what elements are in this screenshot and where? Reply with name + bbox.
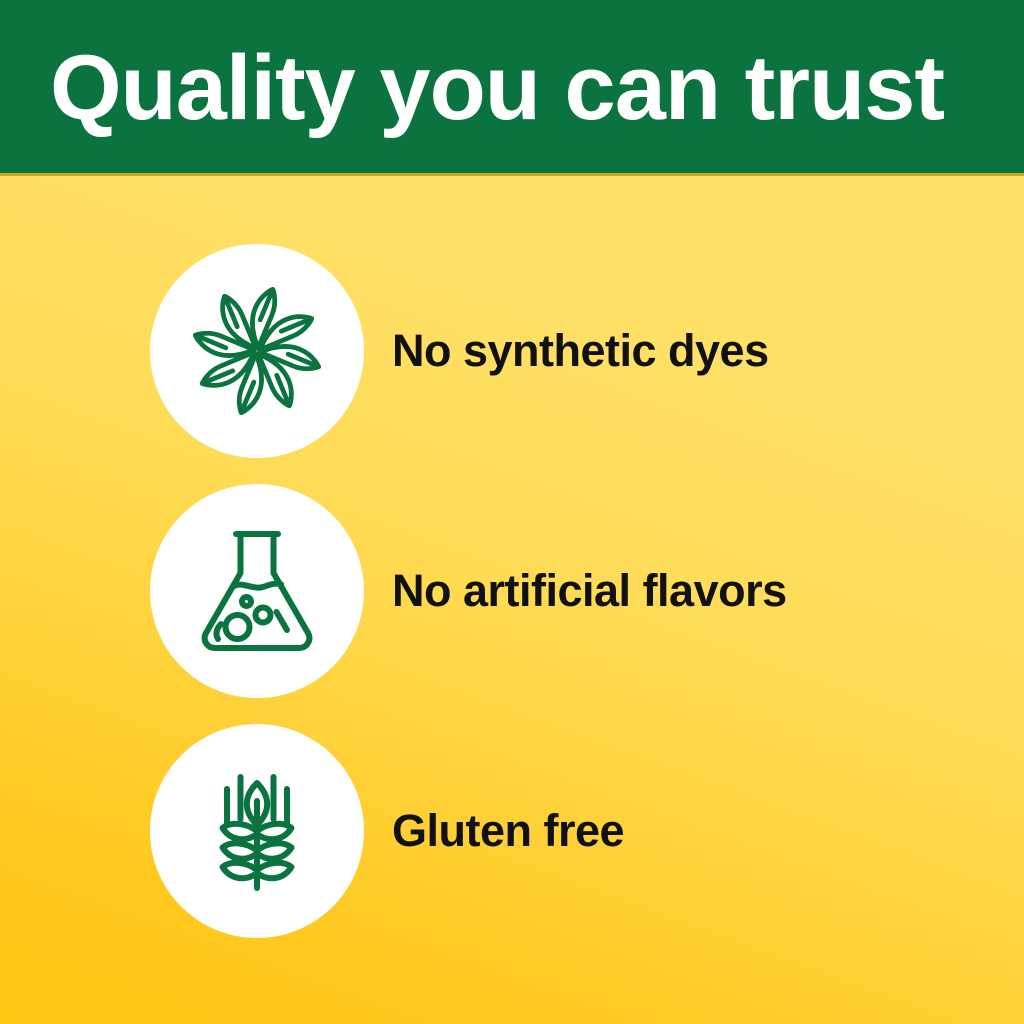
feature-list: No synthetic dyes xyxy=(0,244,1024,938)
list-item-label: No artificial flavors xyxy=(392,567,787,614)
list-item: No synthetic dyes xyxy=(0,244,1024,458)
features-section: No synthetic dyes xyxy=(0,176,1024,1024)
icon-badge xyxy=(150,244,364,458)
flower-petals-icon xyxy=(182,276,332,426)
quality-badge-poster: Quality you can trust xyxy=(0,0,1024,1024)
list-item-label: Gluten free xyxy=(392,807,624,854)
list-item: No artificial flavors xyxy=(0,484,1024,698)
list-item-label: No synthetic dyes xyxy=(392,327,769,374)
icon-badge xyxy=(150,484,364,698)
page-title: Quality you can trust xyxy=(0,42,944,134)
erlenmeyer-flask-icon xyxy=(182,516,332,666)
list-item: Gluten free xyxy=(0,724,1024,938)
wheat-stalk-icon xyxy=(182,756,332,906)
icon-badge xyxy=(150,724,364,938)
header-band: Quality you can trust xyxy=(0,0,1024,176)
